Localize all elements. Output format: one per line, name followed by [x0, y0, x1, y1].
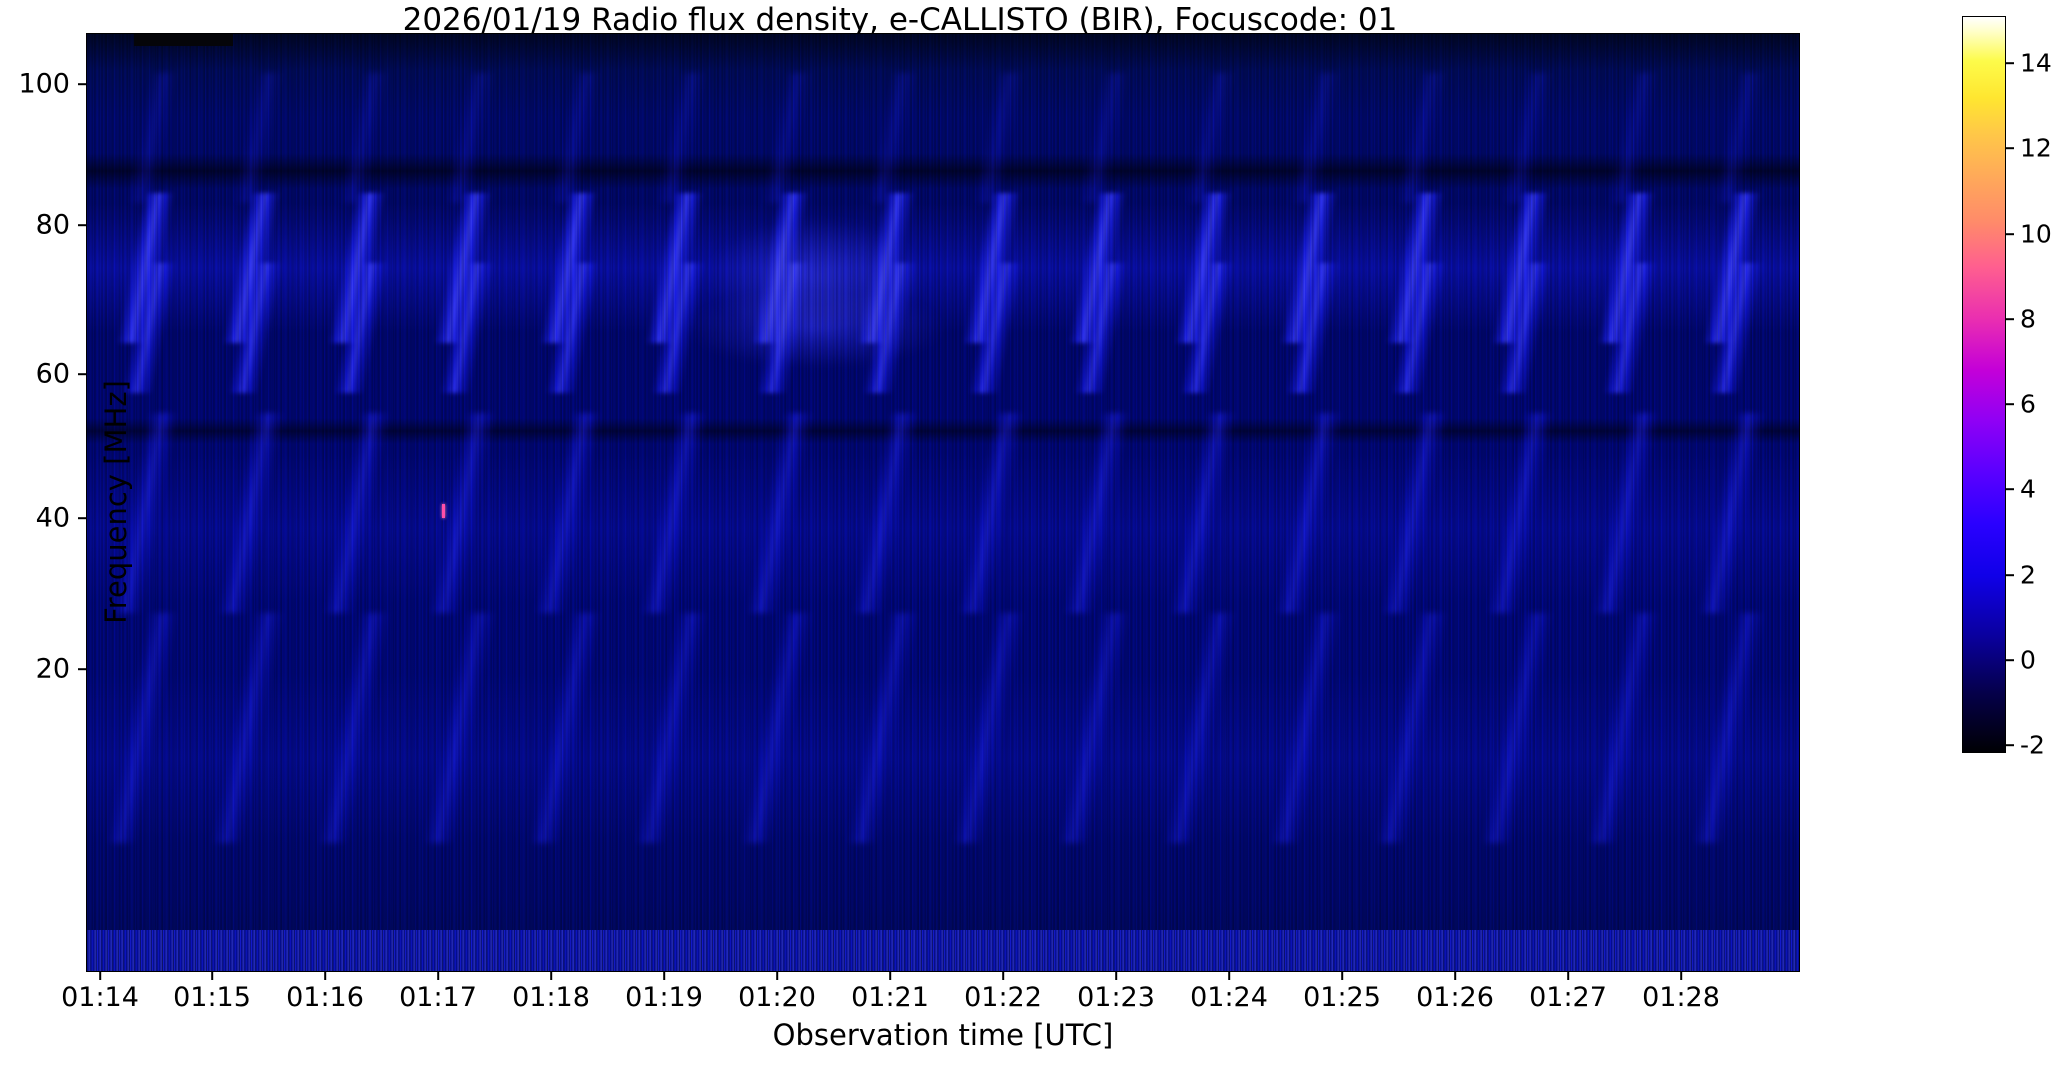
x-tick-mark [1454, 972, 1456, 980]
y-tick-mark [78, 83, 86, 85]
colorbar-tick-label: 0 [2020, 646, 2036, 675]
x-tick-label: 01:17 [399, 982, 477, 1013]
colorbar-tick-label: -2 [2020, 731, 2045, 760]
vertical-noise-texture-2 [86, 33, 1800, 972]
x-tick-mark [663, 972, 665, 980]
x-tick-mark [889, 972, 891, 980]
y-tick-label: 60 [0, 359, 70, 390]
colorbar-tick-mark [2006, 488, 2014, 490]
x-tick-label: 01:23 [1077, 982, 1155, 1013]
x-tick-mark [1002, 972, 1004, 980]
colorbar-tick-mark [2006, 318, 2014, 320]
y-tick-mark [78, 517, 86, 519]
rfi-band-bottom [86, 930, 1800, 972]
spectrogram-figure: 2026/01/19 Radio flux density, e-CALLIST… [0, 0, 2066, 1067]
colorbar-tick-mark [2006, 659, 2014, 661]
x-tick-mark [437, 972, 439, 980]
x-tick-mark [776, 972, 778, 980]
x-tick-mark [324, 972, 326, 980]
colorbar-tick-label: 4 [2020, 475, 2036, 504]
x-tick-label: 01:25 [1303, 982, 1381, 1013]
x-tick-mark [211, 972, 213, 980]
bright-pixel-marker [442, 504, 445, 518]
x-tick-mark [1567, 972, 1569, 980]
x-tick-label: 01:26 [1416, 982, 1494, 1013]
x-tick-label: 01:18 [512, 982, 590, 1013]
x-tick-label: 01:24 [1190, 982, 1268, 1013]
y-axis-label: Frequency [MHz] [99, 380, 133, 624]
x-axis-label: Observation time [UTC] [773, 1018, 1114, 1052]
x-tick-mark [550, 972, 552, 980]
y-tick-label: 40 [0, 503, 70, 534]
colorbar-tick-label: 2 [2020, 561, 2036, 590]
colorbar-tick-mark [2006, 574, 2014, 576]
colorbar-tick-label: 10 [2020, 220, 2052, 249]
x-tick-mark [1228, 972, 1230, 980]
data-dropout-patch [134, 33, 233, 46]
x-tick-label: 01:22 [964, 982, 1042, 1013]
spectrogram-plot-area[interactable] [86, 33, 1800, 972]
y-tick-mark [78, 224, 86, 226]
x-tick-mark [1680, 972, 1682, 980]
x-tick-mark [1115, 972, 1117, 980]
x-tick-mark [1341, 972, 1343, 980]
y-tick-label: 80 [0, 210, 70, 241]
y-tick-mark [78, 373, 86, 375]
y-tick-label: 100 [0, 69, 70, 100]
colorbar-tick-mark [2006, 62, 2014, 64]
x-tick-label: 01:15 [173, 982, 251, 1013]
colorbar-gradient[interactable] [1962, 16, 2006, 753]
x-tick-label: 01:28 [1642, 982, 1720, 1013]
colorbar-tick-label: 12 [2020, 134, 2052, 163]
x-tick-label: 01:21 [851, 982, 929, 1013]
colorbar-tick-mark [2006, 233, 2014, 235]
x-tick-label: 01:27 [1529, 982, 1607, 1013]
colorbar-tick-label: 6 [2020, 390, 2036, 419]
colorbar-tick-label: 14 [2020, 49, 2052, 78]
x-tick-label: 01:16 [286, 982, 364, 1013]
colorbar-tick-mark [2006, 147, 2014, 149]
colorbar-tick-label: 8 [2020, 305, 2036, 334]
x-tick-mark [99, 972, 101, 980]
colorbar-tick-mark [2006, 403, 2014, 405]
x-tick-label: 01:14 [61, 982, 139, 1013]
colorbar-tick-mark [2006, 744, 2014, 746]
y-tick-label: 20 [0, 654, 70, 685]
y-tick-mark [78, 668, 86, 670]
x-tick-label: 01:19 [625, 982, 703, 1013]
x-tick-label: 01:20 [738, 982, 816, 1013]
